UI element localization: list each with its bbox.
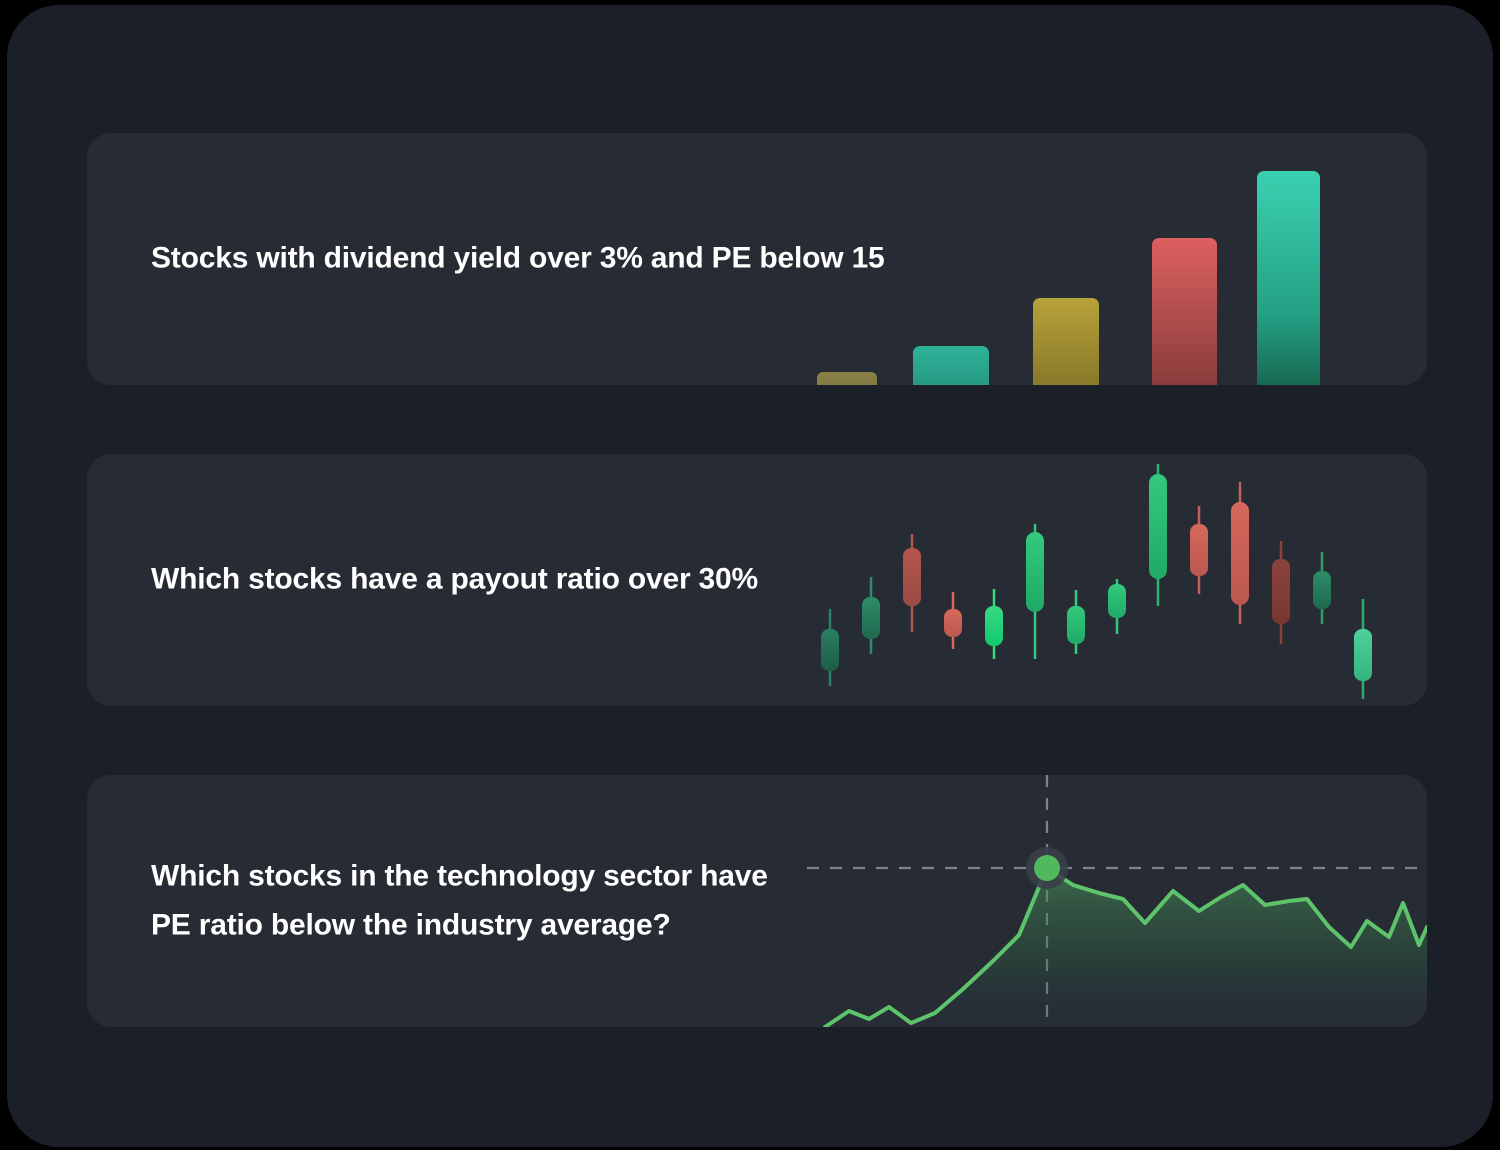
candle-14 (1354, 599, 1372, 699)
candle-series (821, 464, 1372, 699)
bar-4 (1152, 238, 1217, 385)
bar-5 (1257, 171, 1320, 385)
bar-2 (913, 346, 989, 385)
bar-3 (1033, 298, 1099, 385)
area-fill (825, 868, 1427, 1027)
prompt-card-dividend-yield[interactable]: Stocks with dividend yield over 3% and P… (87, 133, 1427, 385)
card-prompt-text: Stocks with dividend yield over 3% and P… (151, 235, 885, 284)
candle-9 (1149, 464, 1167, 606)
data-point-marker (1034, 855, 1060, 881)
card-prompt-text: Which stocks in the technology sector ha… (151, 852, 768, 949)
candle-13 (1313, 552, 1331, 624)
card-prompt-text: Which stocks have a payout ratio over 30… (151, 556, 758, 605)
area-line-chart-visual (807, 775, 1427, 1027)
candle-12 (1272, 541, 1290, 644)
bar-1 (817, 372, 877, 385)
candle-7 (1067, 590, 1085, 654)
bar-chart-visual (807, 133, 1427, 385)
candle-5 (985, 589, 1003, 659)
app-frame: Stocks with dividend yield over 3% and P… (7, 5, 1493, 1147)
bar-series (817, 171, 1320, 385)
candlestick-chart-visual (807, 454, 1427, 706)
prompt-card-pe-ratio[interactable]: Which stocks in the technology sector ha… (87, 775, 1427, 1027)
candle-8 (1108, 579, 1126, 634)
prompt-card-payout-ratio[interactable]: Which stocks have a payout ratio over 30… (87, 454, 1427, 706)
candle-10 (1190, 506, 1208, 594)
candle-4 (944, 592, 962, 649)
candle-3 (903, 534, 921, 632)
candle-11 (1231, 482, 1249, 624)
candle-1 (821, 609, 839, 686)
candle-6 (1026, 524, 1044, 659)
candle-2 (862, 577, 880, 654)
